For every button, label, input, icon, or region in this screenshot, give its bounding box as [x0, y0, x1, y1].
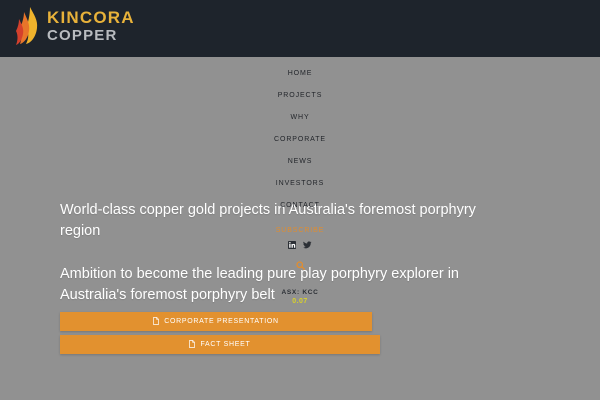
nav-item-news[interactable]: NEWS — [288, 158, 313, 165]
brand-wordmark: KINCORA COPPER — [47, 9, 135, 43]
site-header: KINCORA COPPER — [0, 0, 600, 57]
nav-item-investors[interactable]: INVESTORS — [276, 180, 324, 187]
brand-name-primary: KINCORA — [47, 9, 135, 26]
nav-item-home[interactable]: HOME — [288, 70, 313, 77]
asx-ticker-price: 0.07 — [281, 298, 318, 305]
hero-subheadline-block: Ambition to become the leading pure play… — [60, 264, 500, 306]
brand-logo[interactable]: KINCORA COPPER — [14, 6, 135, 46]
document-icon — [153, 317, 159, 327]
hero-subheadline: Ambition to become the leading pure play… — [60, 264, 500, 306]
asx-ticker[interactable]: ASX: KCC 0.07 — [281, 289, 318, 305]
hero-headline: World-class copper gold projects in Aust… — [60, 200, 490, 242]
nav-item-why[interactable]: WHY — [290, 114, 309, 121]
twitter-icon[interactable] — [303, 241, 312, 249]
linkedin-icon[interactable] — [288, 241, 296, 249]
corporate-presentation-button[interactable]: CORPORATE PRESENTATION — [60, 312, 372, 331]
hero-section: HOME PROJECTS WHY CORPORATE NEWS INVESTO… — [0, 57, 600, 400]
document-icon — [189, 340, 195, 350]
search-icon[interactable] — [296, 257, 305, 275]
nav-item-corporate[interactable]: CORPORATE — [274, 136, 326, 143]
corporate-presentation-label: CORPORATE PRESENTATION — [164, 318, 279, 325]
nav-item-projects[interactable]: PROJECTS — [278, 92, 323, 99]
subscribe-link[interactable]: SUBSCRIBE — [276, 227, 325, 234]
fact-sheet-button[interactable]: FACT SHEET — [60, 335, 380, 354]
social-links — [288, 241, 312, 249]
flame-icon — [14, 6, 40, 46]
hero-headline-block: World-class copper gold projects in Aust… — [60, 200, 490, 242]
fact-sheet-label: FACT SHEET — [200, 341, 250, 348]
brand-name-secondary: COPPER — [47, 28, 135, 43]
nav-item-contact[interactable]: CONTACT — [280, 202, 320, 209]
asx-ticker-label: ASX: KCC — [281, 289, 318, 296]
